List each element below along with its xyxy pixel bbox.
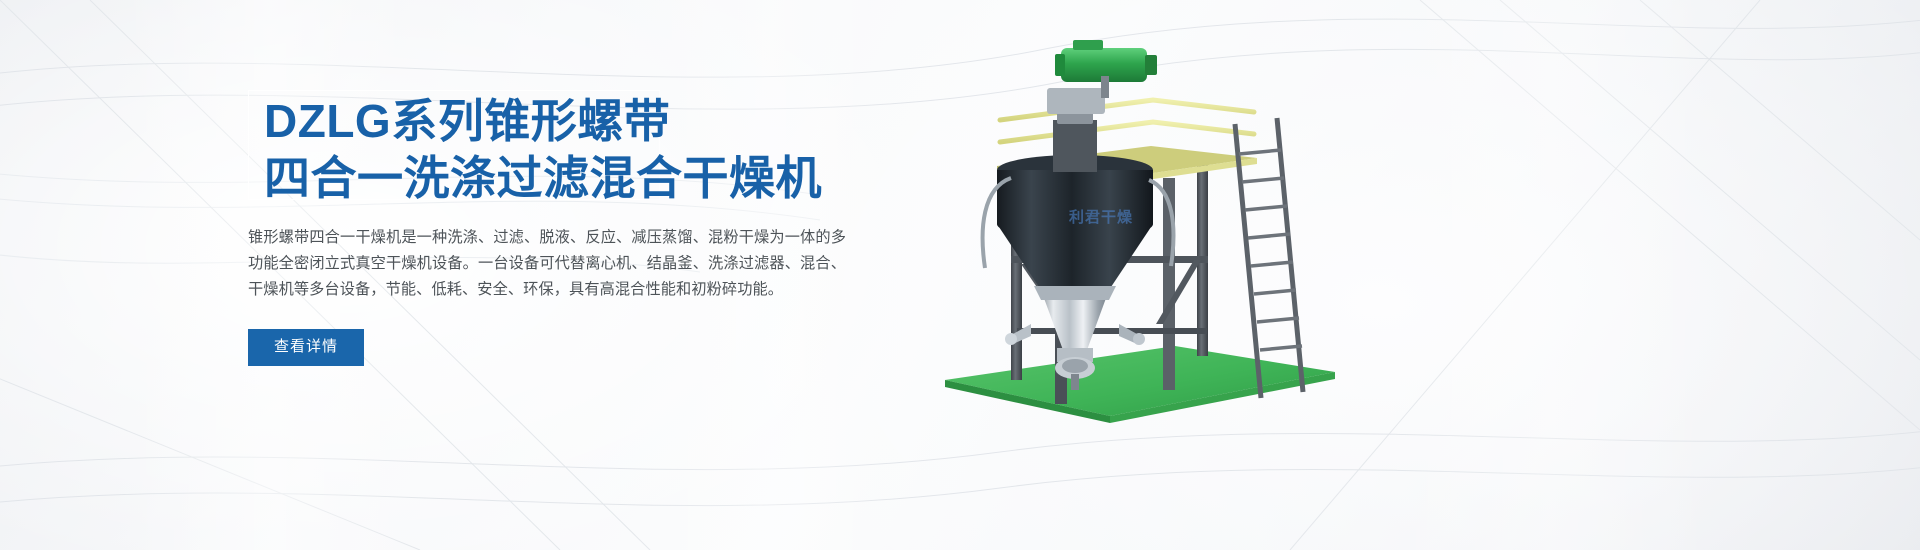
hero-banner: DZLG系列锥形螺带 四合一洗涤过滤混合干燥机 锥形螺带四合一干燥机是一种洗涤、… [0,0,1920,550]
view-details-button[interactable]: 查看详情 [248,329,364,366]
banner-title-line-2: 四合一洗涤过滤混合干燥机 [264,155,908,201]
banner-description: 锥形螺带四合一干燥机是一种洗涤、过滤、脱液、反应、减压蒸馏、混粉干燥为一体的多功… [248,225,846,303]
product-illustration: 利君干燥 [905,28,1375,448]
floor-platform [945,346,1335,423]
banner-content: DZLG系列锥形螺带 四合一洗涤过滤混合干燥机 锥形螺带四合一干燥机是一种洗涤、… [248,84,908,414]
conical-ribbon-dryer-render [905,28,1375,448]
banner-title-line-1: DZLG系列锥形螺带 [264,98,908,144]
